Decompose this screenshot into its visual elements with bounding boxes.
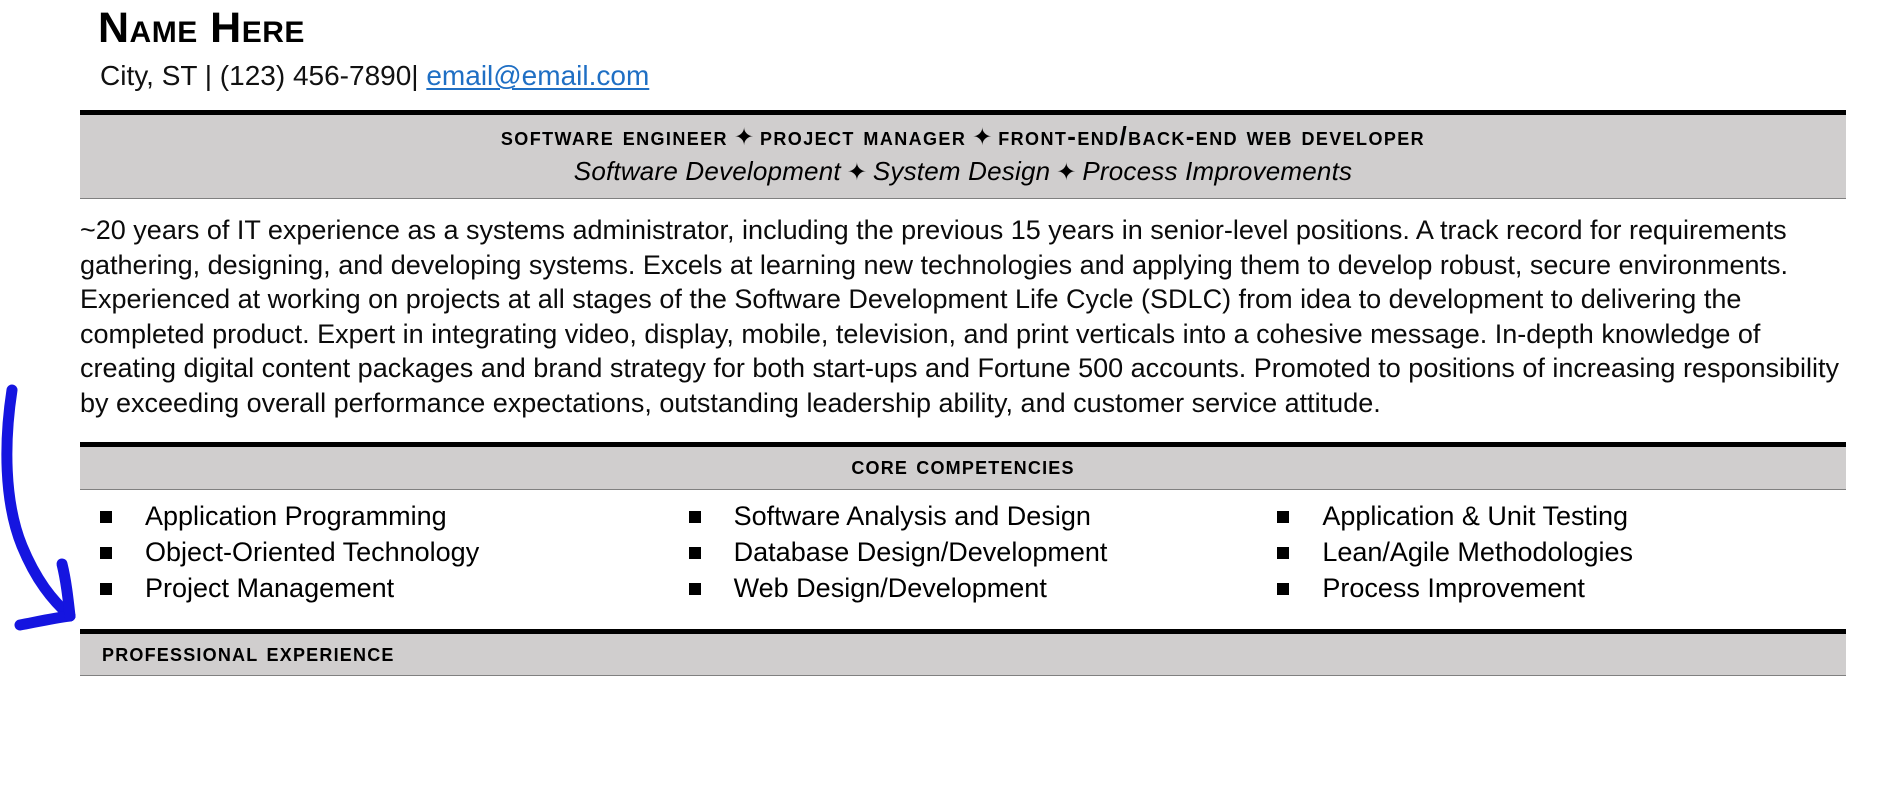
competency-label: Lean/Agile Methodologies xyxy=(1322,535,1846,569)
square-bullet-icon xyxy=(689,583,701,595)
square-bullet-icon xyxy=(100,511,112,523)
competency-label: Object-Oriented Technology xyxy=(145,535,669,569)
competency-label: Application & Unit Testing xyxy=(1322,499,1846,533)
square-bullet-icon xyxy=(689,547,701,559)
square-bullet-icon xyxy=(100,547,112,559)
resume-header: Name Here City, ST | (123) 456-7890| ema… xyxy=(0,0,1890,93)
specialty-3: Process Improvements xyxy=(1082,156,1352,186)
competency-column-1: Application Programming Object-Oriented … xyxy=(80,498,669,607)
section-band-professional-experience: Professional Experience xyxy=(80,629,1846,676)
competency-label: Process Improvement xyxy=(1322,571,1846,605)
competency-label: Web Design/Development xyxy=(734,571,1258,605)
square-bullet-icon xyxy=(1277,547,1289,559)
square-bullet-icon xyxy=(1277,511,1289,523)
list-item: Lean/Agile Methodologies xyxy=(1257,534,1846,570)
summary-paragraph: ~20 years of IT experience as a systems … xyxy=(80,213,1842,420)
competency-label: Software Analysis and Design xyxy=(734,499,1258,533)
competency-column-2: Software Analysis and Design Database De… xyxy=(669,498,1258,607)
list-item: Object-Oriented Technology xyxy=(80,534,669,570)
square-bullet-icon xyxy=(689,511,701,523)
headline-band: Software Engineer✦Project Manager✦Front-… xyxy=(80,110,1846,199)
section-heading-core-competencies: Core Competencies xyxy=(90,451,1836,482)
star-separator-icon: ✦ xyxy=(966,124,998,151)
section-band-core-competencies: Core Competencies xyxy=(80,442,1846,489)
competency-column-3: Application & Unit Testing Lean/Agile Me… xyxy=(1257,498,1846,607)
list-item: Software Analysis and Design xyxy=(669,498,1258,534)
headline-roles: Software Engineer✦Project Manager✦Front-… xyxy=(90,121,1836,152)
email-link[interactable]: email@email.com xyxy=(426,60,649,91)
specialty-2: System Design xyxy=(873,156,1050,186)
resume-page: Name Here City, ST | (123) 456-7890| ema… xyxy=(0,0,1890,787)
role-1: Software Engineer xyxy=(501,121,728,151)
page-title: Name Here xyxy=(98,6,1890,51)
contact-text: City, ST | (123) 456-7890| xyxy=(100,60,419,91)
list-item: Web Design/Development xyxy=(669,570,1258,606)
headline-specialties: Software Development✦System Design✦Proce… xyxy=(90,155,1836,189)
star-separator-icon: ✦ xyxy=(841,159,873,186)
specialty-1: Software Development xyxy=(574,156,841,186)
star-separator-icon: ✦ xyxy=(1050,159,1082,186)
competency-label: Project Management xyxy=(145,571,669,605)
section-heading-professional-experience: Professional Experience xyxy=(90,638,1836,669)
list-item: Database Design/Development xyxy=(669,534,1258,570)
list-item: Project Management xyxy=(80,570,669,606)
list-item: Application & Unit Testing xyxy=(1257,498,1846,534)
competency-label: Database Design/Development xyxy=(734,535,1258,569)
list-item: Process Improvement xyxy=(1257,570,1846,606)
star-separator-icon: ✦ xyxy=(728,124,760,151)
competency-label: Application Programming xyxy=(145,499,669,533)
role-2: Project Manager xyxy=(760,121,966,151)
square-bullet-icon xyxy=(1277,583,1289,595)
contact-line: City, ST | (123) 456-7890| email@email.c… xyxy=(100,58,1890,93)
list-item: Application Programming xyxy=(80,498,669,534)
role-3: Front-End/Back-End Web Developer xyxy=(998,121,1425,151)
core-competencies-grid: Application Programming Object-Oriented … xyxy=(80,498,1846,607)
square-bullet-icon xyxy=(100,583,112,595)
